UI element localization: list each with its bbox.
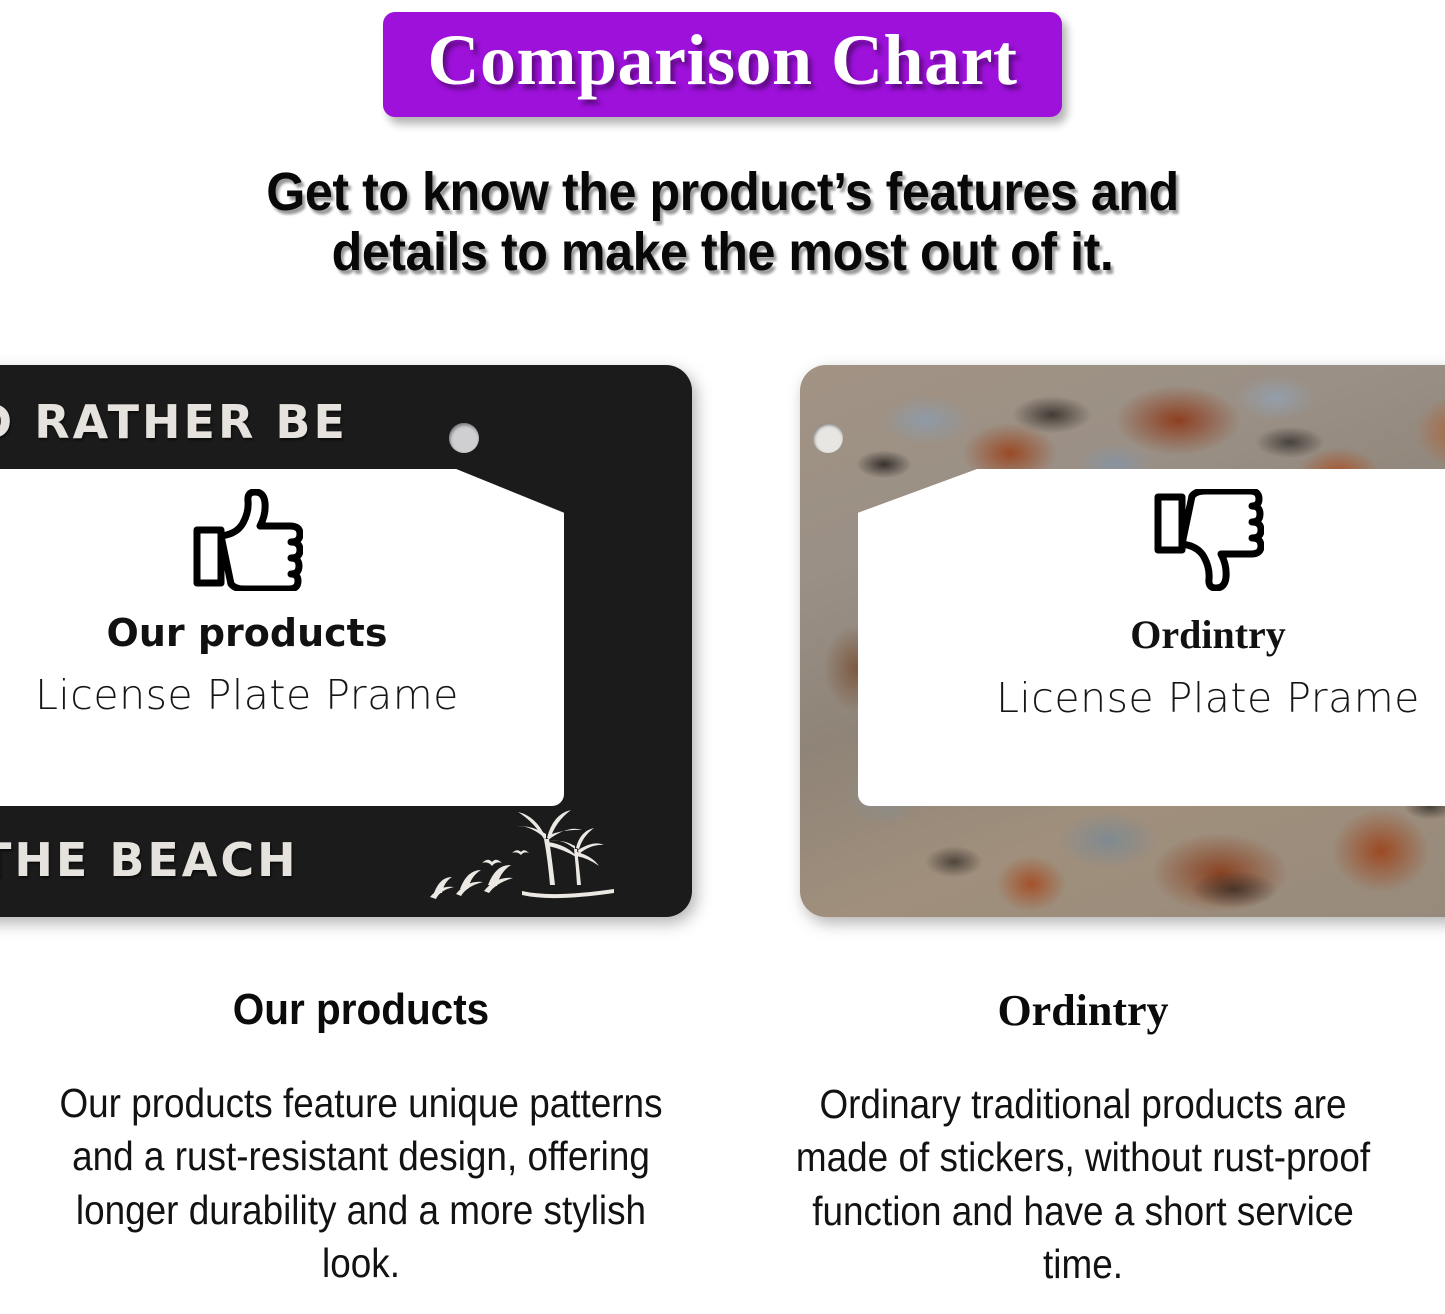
palm-tree-beach-art <box>426 805 616 905</box>
comparison-column-ordintry: Ordintry Ordinary traditional products a… <box>722 985 1444 1314</box>
right-product-label: Ordintry <box>1130 611 1286 658</box>
plate-window-right: Ordintry License Plate Prame <box>858 469 1445 806</box>
left-product-sub: License Plate Prame <box>35 671 459 719</box>
thumbs-down-icon <box>1152 489 1264 591</box>
product-frames-row: D RATHER BE THE BEACH <box>0 360 1445 920</box>
subtitle-line-1: Get to know the product’s features and <box>106 162 1338 222</box>
ordinary-license-plate-frame: Ordintry License Plate Prame <box>800 365 1445 917</box>
plate-window-left: Our products License Plate Prame <box>0 469 564 806</box>
column-body-ordintry: Ordinary traditional products are made o… <box>780 1078 1387 1291</box>
right-window-content: Ordintry License Plate Prame <box>858 469 1445 806</box>
plate-bottom-text: THE BEACH <box>0 833 299 887</box>
right-product-sub: License Plate Prame <box>996 674 1420 722</box>
page-title: Comparison Chart <box>427 18 1017 103</box>
column-heading-ordintry: Ordintry <box>746 985 1420 1036</box>
plate-top-text: D RATHER BE <box>0 395 348 449</box>
left-product-label: Our products <box>107 611 388 655</box>
subtitle-line-2: details to make the most out of it. <box>106 222 1338 282</box>
left-window-content: Our products License Plate Prame <box>0 469 564 806</box>
comparison-chart-page: Comparison Chart Get to know the product… <box>0 0 1445 1314</box>
page-subtitle: Get to know the product’s features and d… <box>106 162 1338 283</box>
our-product-license-plate-frame: D RATHER BE THE BEACH <box>0 365 692 917</box>
mounting-hole <box>449 423 479 453</box>
comparison-column-our-products: Our products Our products feature unique… <box>0 985 722 1314</box>
thumbs-up-icon <box>191 489 303 591</box>
mounting-hole <box>813 423 843 453</box>
title-banner: Comparison Chart <box>383 12 1061 117</box>
column-body-our-products: Our products feature unique patterns and… <box>58 1077 665 1290</box>
column-heading-our-products: Our products <box>51 985 671 1035</box>
title-banner-wrapper: Comparison Chart <box>0 12 1445 117</box>
comparison-columns: Our products Our products feature unique… <box>0 985 1445 1314</box>
